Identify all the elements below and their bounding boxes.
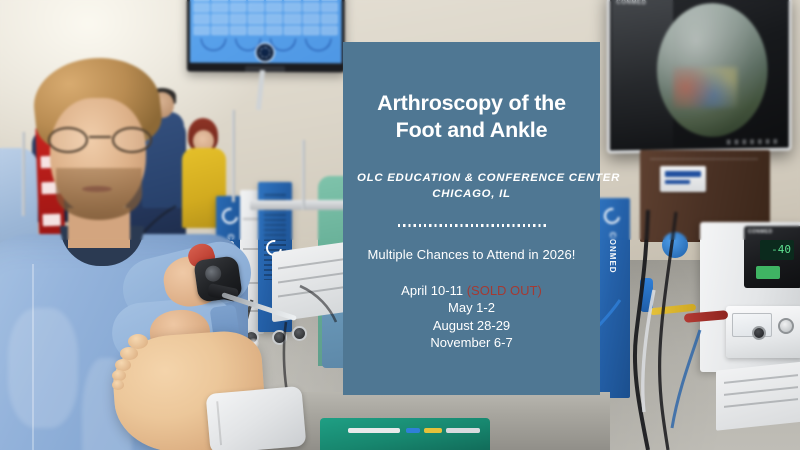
mouth bbox=[82, 186, 112, 192]
session-date-row: May 1-2 bbox=[357, 299, 586, 317]
course-title-line-1: Arthroscopy of the bbox=[357, 90, 586, 117]
course-title: Arthroscopy of the Foot and Ankle bbox=[357, 90, 586, 144]
dotted-divider bbox=[398, 224, 546, 227]
promotional-flyer: CONMED CONMED CONMED bbox=[0, 0, 800, 450]
venue-name: OLC EDUCATION & CONFERENCE CENTER bbox=[357, 171, 586, 187]
attendance-tagline: Multiple Chances to Attend in 2026! bbox=[357, 247, 586, 262]
course-info-panel: Arthroscopy of the Foot and Ankle OLC ED… bbox=[343, 42, 600, 395]
glasses-bridge bbox=[89, 136, 111, 138]
session-date-list: April 10-11 (SOLD OUT) May 1-2 August 28… bbox=[357, 282, 586, 352]
beard bbox=[56, 168, 142, 220]
session-date: November 6-7 bbox=[430, 335, 512, 350]
sold-out-badge: (SOLD OUT) bbox=[467, 283, 542, 298]
session-date-row: April 10-11 (SOLD OUT) bbox=[357, 282, 586, 300]
session-date-row: November 6-7 bbox=[357, 334, 586, 352]
session-date-row: August 28-29 bbox=[357, 317, 586, 335]
lens-right bbox=[112, 127, 152, 153]
model-toes bbox=[112, 332, 164, 392]
iv-pole bbox=[302, 140, 305, 210]
eyeglasses bbox=[48, 127, 152, 153]
session-date: April 10-11 bbox=[401, 283, 463, 298]
course-title-line-2: Foot and Ankle bbox=[357, 117, 586, 144]
session-date: May 1-2 bbox=[448, 300, 495, 315]
foot-holder-clamp bbox=[206, 386, 307, 450]
session-date: August 28-29 bbox=[433, 318, 510, 333]
venue-info: OLC EDUCATION & CONFERENCE CENTER CHICAG… bbox=[357, 171, 586, 202]
green-instrument-basin bbox=[320, 418, 490, 450]
lens-left bbox=[48, 127, 88, 153]
gown-fold bbox=[8, 308, 78, 428]
venue-city: CHICAGO, IL bbox=[357, 187, 586, 203]
